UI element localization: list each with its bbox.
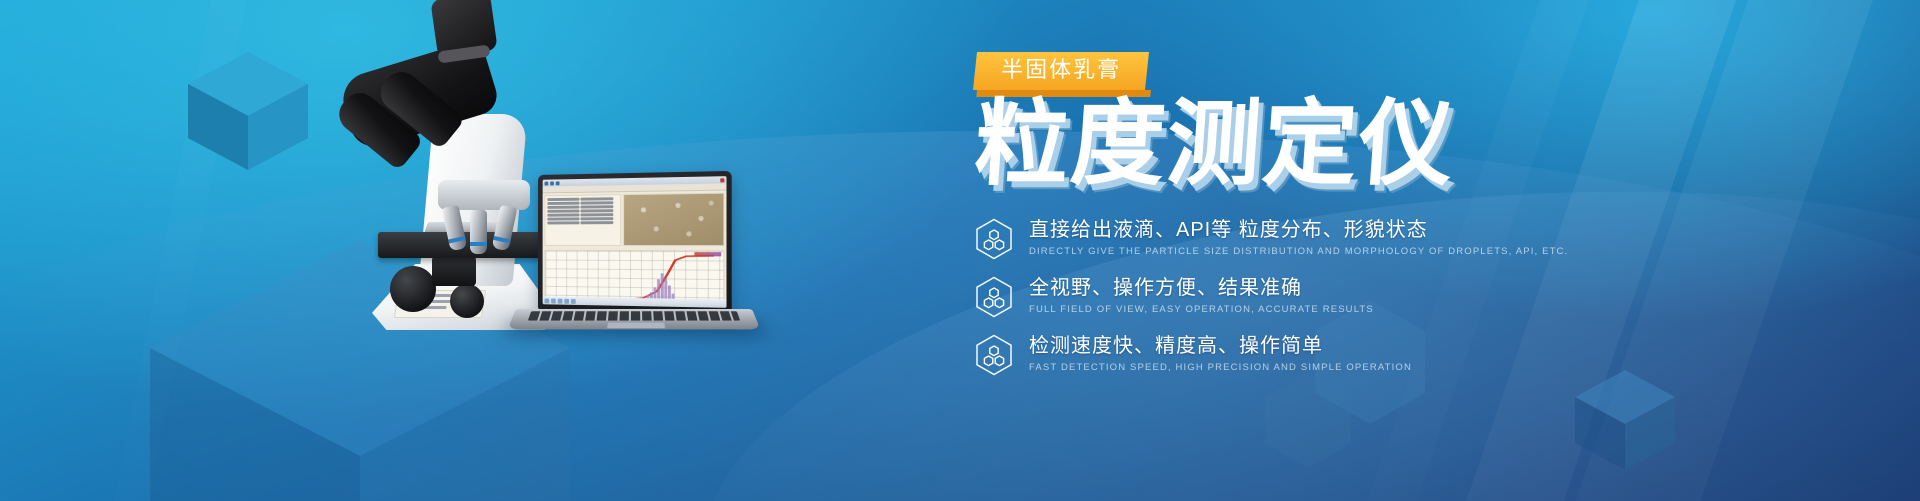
category-tag: 半固体乳膏 [973, 52, 1149, 90]
product-image-group [320, 18, 760, 368]
microscope-objective [470, 210, 487, 254]
category-tag-label: 半固体乳膏 [1001, 59, 1121, 81]
microscope-fine-focus-knob [450, 284, 484, 318]
feature-title-cn: 直接给出液滴、API等 粒度分布、形貌状态 [1029, 218, 1568, 243]
laptop-keys [528, 311, 740, 320]
hexagon-particles-icon [975, 276, 1013, 318]
laptop-lid [538, 171, 732, 313]
feature-item: 直接给出液滴、API等 粒度分布、形貌状态 DIRECTLY GIVE THE … [975, 218, 1535, 260]
hexagon-particles-icon [975, 334, 1013, 376]
feature-list: 直接给出液滴、API等 粒度分布、形貌状态 DIRECTLY GIVE THE … [975, 218, 1535, 376]
feature-title-cn: 检测速度快、精度高、操作简单 [1029, 334, 1412, 359]
promo-banner: 半固体乳膏 粒度测定仪 直接给出液滴、API等 粒度分布、形貌状态 DIRECT… [0, 0, 1920, 501]
feature-text: 检测速度快、精度高、操作简单 FAST DETECTION SPEED, HIG… [1029, 334, 1412, 375]
software-parameter-panel [545, 194, 622, 246]
hexagon-particles-icon [975, 218, 1013, 260]
software-statusbar [543, 296, 727, 307]
feature-item: 全视野、操作方便、结果准确 FULL FIELD OF VIEW, EASY O… [975, 276, 1535, 318]
software-body [543, 191, 727, 249]
bg-cube-bottom-right-icon [1575, 370, 1675, 470]
chart-legend [694, 252, 721, 256]
feature-title-en: FAST DETECTION SPEED, HIGH PRECISION AND… [1029, 362, 1412, 375]
microscope-condenser [432, 256, 476, 286]
software-micrograph-preview [623, 193, 724, 246]
bg-stripe-left [77, 0, 278, 501]
laptop-image [516, 173, 752, 358]
banner-content: 半固体乳膏 粒度测定仪 直接给出液滴、API等 粒度分布、形貌状态 DIRECT… [975, 52, 1535, 392]
feature-title-en: DIRECTLY GIVE THE PARTICLE SIZE DISTRIBU… [1029, 246, 1568, 259]
bg-cube-top-left-icon [188, 52, 308, 170]
bg-stripe-right [1527, 0, 1920, 501]
feature-title-cn: 全视野、操作方便、结果准确 [1029, 276, 1374, 301]
feature-item: 检测速度快、精度高、操作简单 FAST DETECTION SPEED, HIG… [975, 334, 1535, 376]
banner-title: 粒度测定仪 [972, 96, 1539, 192]
laptop-trackpad [606, 322, 666, 329]
feature-text: 直接给出液滴、API等 粒度分布、形貌状态 DIRECTLY GIVE THE … [1029, 218, 1568, 259]
laptop-screen [543, 176, 727, 308]
laptop-keyboard-base [508, 309, 761, 329]
feature-text: 全视野、操作方便、结果准确 FULL FIELD OF VIEW, EASY O… [1029, 276, 1374, 317]
bg-bottom-glow [0, 131, 1920, 501]
microscope-focus-knob [390, 266, 436, 312]
feature-title-en: FULL FIELD OF VIEW, EASY OPERATION, ACCU… [1029, 304, 1374, 317]
